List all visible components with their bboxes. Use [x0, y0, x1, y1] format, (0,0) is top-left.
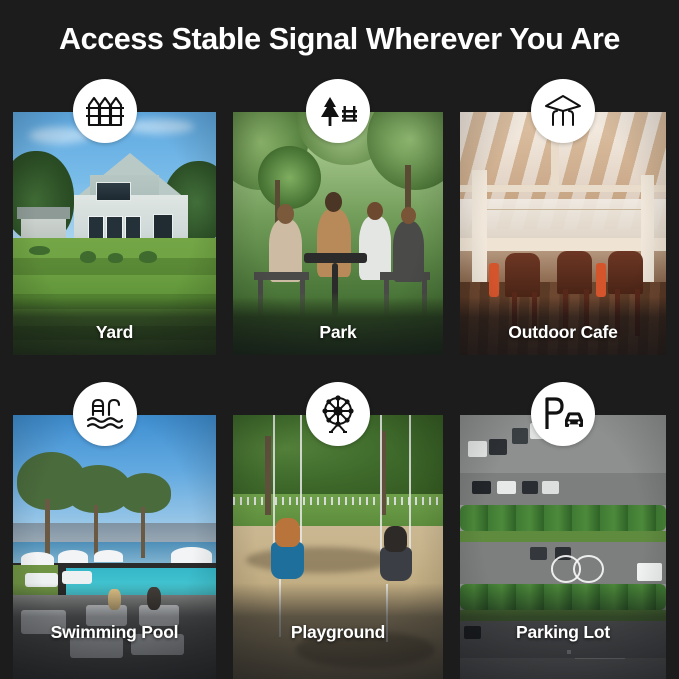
outdoor-cafe-photo: Outdoor Cafe: [460, 112, 666, 355]
badge-parking-lot: [531, 382, 595, 446]
tile-label-yard: Yard: [13, 322, 216, 343]
badge-playground: [306, 382, 370, 446]
tile-label-playground: Playground: [233, 622, 443, 643]
badge-park: [306, 79, 370, 143]
pool-ladder-waves-icon: [85, 397, 125, 431]
promo-poster: Access Stable Signal Wherever You Are: [0, 0, 679, 679]
scenario-tile-playground[interactable]: Playground: [233, 415, 443, 679]
park-photo: Park: [233, 112, 443, 355]
gazebo-icon: [543, 94, 583, 128]
ferris-wheel-icon: [318, 394, 358, 434]
tile-label-parking-lot: Parking Lot: [460, 622, 666, 643]
badge-yard: [73, 79, 137, 143]
parking-lot-photo: Parking Lot: [460, 415, 666, 679]
scenario-tile-outdoor-cafe[interactable]: Outdoor Cafe: [460, 112, 666, 355]
scenario-tile-swimming-pool[interactable]: Swimming Pool: [13, 415, 216, 679]
yard-photo: Yard: [13, 112, 216, 355]
tile-label-swimming-pool: Swimming Pool: [13, 622, 216, 643]
scenario-tile-park[interactable]: Park: [233, 112, 443, 355]
badge-outdoor-cafe: [531, 79, 595, 143]
tile-label-park: Park: [233, 322, 443, 343]
scenario-grid: Yard: [0, 0, 679, 679]
tile-label-outdoor-cafe: Outdoor Cafe: [460, 322, 666, 343]
scenario-tile-parking-lot[interactable]: Parking Lot: [460, 415, 666, 679]
picket-fence-icon: [85, 94, 125, 128]
scenario-tile-yard[interactable]: Yard: [13, 112, 216, 355]
pine-tree-bench-icon: [317, 94, 359, 128]
parking-car-icon: [542, 396, 584, 432]
playground-photo: Playground: [233, 415, 443, 679]
swimming-pool-photo: Swimming Pool: [13, 415, 216, 679]
badge-swimming-pool: [73, 382, 137, 446]
